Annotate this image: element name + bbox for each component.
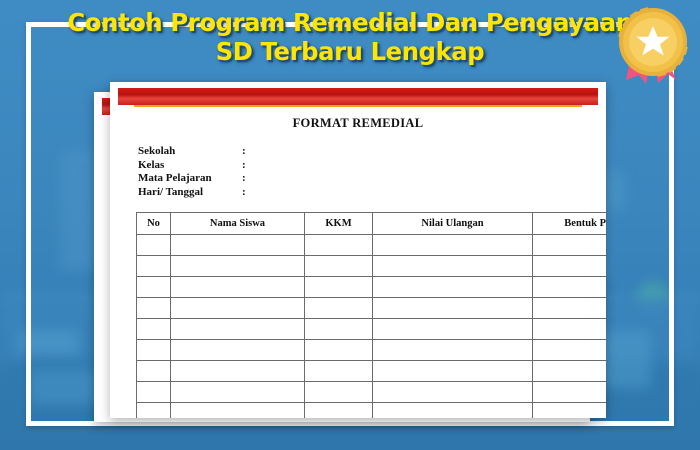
table-row <box>137 235 607 256</box>
table-cell-bentuk <box>533 361 607 382</box>
remedial-table: No Nama Siswa KKM Nilai Ulangan Bentuk P… <box>136 212 606 418</box>
field-label-kelas: Kelas <box>138 159 242 173</box>
table-cell-no <box>137 256 171 277</box>
table-cell-bentuk <box>533 235 607 256</box>
table-cell-nama <box>171 256 305 277</box>
field-colon-hari-tanggal: : <box>242 186 256 200</box>
table-cell-no <box>137 403 171 418</box>
table-cell-kkm <box>305 340 373 361</box>
table-cell-kkm <box>305 403 373 418</box>
table-cell-bentuk <box>533 382 607 403</box>
field-value-mata-pelajaran <box>256 172 592 186</box>
table-row <box>137 382 607 403</box>
table-cell-nilai <box>373 256 533 277</box>
field-colon-kelas: : <box>242 159 256 173</box>
document-field-list: Sekolah : Kelas : Mata Pelajaran : Hari/… <box>138 145 592 199</box>
table-cell-nilai <box>373 403 533 418</box>
table-cell-no <box>137 319 171 340</box>
table-header-no: No <box>137 213 171 235</box>
table-cell-bentuk <box>533 256 607 277</box>
award-badge-star-icon <box>612 4 694 90</box>
table-cell-no <box>137 382 171 403</box>
table-cell-nama <box>171 361 305 382</box>
table-cell-kkm <box>305 277 373 298</box>
table-header-bentuk: Bentuk Pe <box>533 213 607 235</box>
table-row <box>137 277 607 298</box>
table-cell-no <box>137 361 171 382</box>
table-cell-kkm <box>305 256 373 277</box>
banner-title: Contoh Program Remedial Dan Pengayaan SD… <box>0 8 700 66</box>
table-cell-no <box>137 235 171 256</box>
table-cell-kkm <box>305 298 373 319</box>
table-row <box>137 256 607 277</box>
table-cell-nilai <box>373 382 533 403</box>
remedial-table-body <box>137 235 607 418</box>
table-cell-nama <box>171 340 305 361</box>
table-header-nama: Nama Siswa <box>171 213 305 235</box>
table-cell-nilai <box>373 277 533 298</box>
table-cell-bentuk <box>533 277 607 298</box>
table-cell-no <box>137 298 171 319</box>
document-header-bar <box>118 88 598 105</box>
table-cell-bentuk <box>533 298 607 319</box>
table-row <box>137 319 607 340</box>
table-cell-nilai <box>373 340 533 361</box>
document-gold-line <box>134 105 582 107</box>
field-label-hari-tanggal: Hari/ Tanggal <box>138 186 242 200</box>
table-header-row: No Nama Siswa KKM Nilai Ulangan Bentuk P… <box>137 213 607 235</box>
field-colon-mata-pelajaran: : <box>242 172 256 186</box>
table-cell-kkm <box>305 361 373 382</box>
table-cell-bentuk <box>533 340 607 361</box>
banner-title-line-1: Contoh Program Remedial Dan Pengayaan <box>11 8 690 37</box>
table-cell-nama <box>171 319 305 340</box>
field-label-sekolah: Sekolah <box>138 145 242 159</box>
table-cell-bentuk <box>533 403 607 418</box>
field-row-hari-tanggal: Hari/ Tanggal : <box>138 186 592 200</box>
background-books <box>20 330 78 354</box>
table-row <box>137 361 607 382</box>
table-cell-kkm <box>305 319 373 340</box>
table-cell-no <box>137 340 171 361</box>
table-cell-no <box>137 277 171 298</box>
field-label-mata-pelajaran: Mata Pelajaran <box>138 172 242 186</box>
table-cell-bentuk <box>533 319 607 340</box>
field-value-sekolah <box>256 145 592 159</box>
table-row <box>137 340 607 361</box>
field-row-sekolah: Sekolah : <box>138 145 592 159</box>
table-cell-nama <box>171 277 305 298</box>
field-value-hari-tanggal <box>256 186 592 200</box>
document-title: FORMAT REMEDIAL <box>124 116 592 131</box>
table-cell-nilai <box>373 361 533 382</box>
table-header-nilai: Nilai Ulangan <box>373 213 533 235</box>
field-row-kelas: Kelas : <box>138 159 592 173</box>
banner-title-line-2: SD Terbaru Lengkap <box>11 37 690 66</box>
table-cell-kkm <box>305 235 373 256</box>
field-colon-sekolah: : <box>242 145 256 159</box>
table-cell-nilai <box>373 319 533 340</box>
table-row <box>137 298 607 319</box>
table-cell-nilai <box>373 235 533 256</box>
table-cell-nilai <box>373 298 533 319</box>
table-cell-nama <box>171 382 305 403</box>
table-cell-nama <box>171 235 305 256</box>
field-value-kelas <box>256 159 592 173</box>
table-cell-nama <box>171 298 305 319</box>
table-cell-kkm <box>305 382 373 403</box>
table-header-kkm: KKM <box>305 213 373 235</box>
table-cell-nama <box>171 403 305 418</box>
table-row <box>137 403 607 418</box>
field-row-mata-pelajaran: Mata Pelajaran : <box>138 172 592 186</box>
document-card-front: FORMAT REMEDIAL Sekolah : Kelas : Mata P… <box>110 82 606 418</box>
screenshot-canvas: Contoh Program Remedial Dan Pengayaan SD… <box>0 0 700 450</box>
